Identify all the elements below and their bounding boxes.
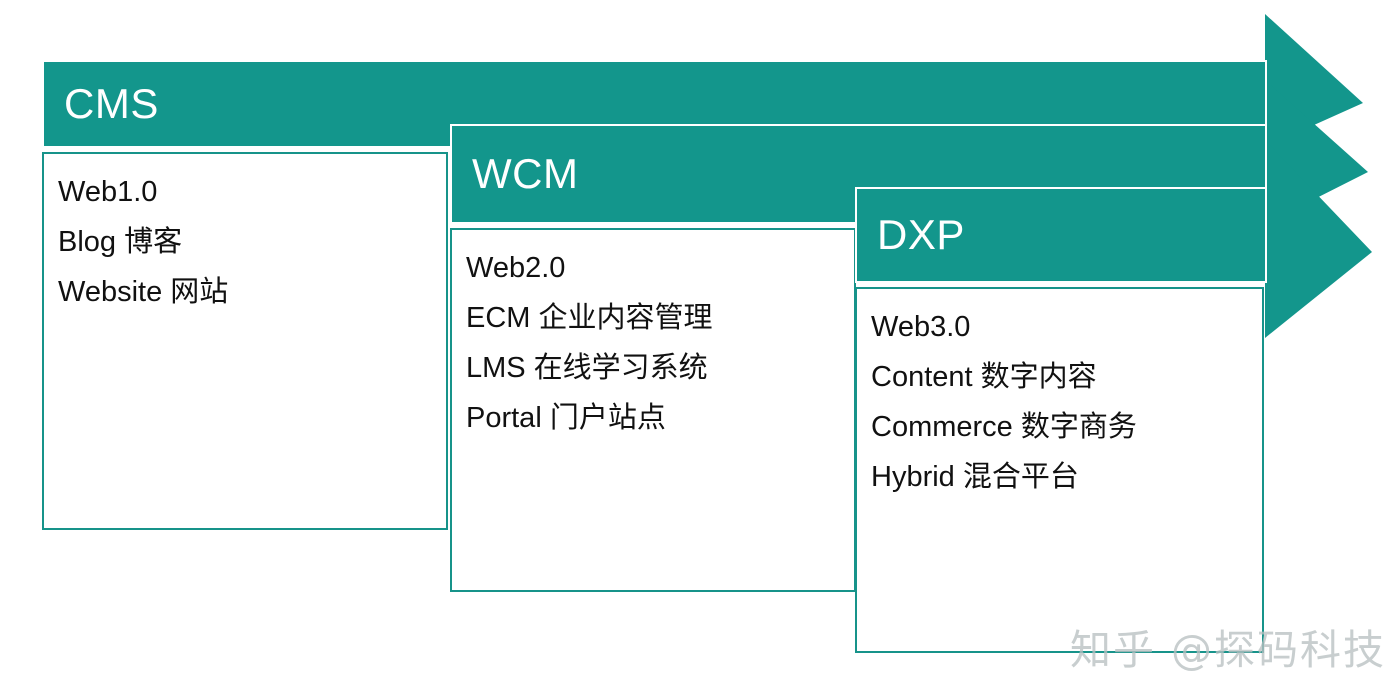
- list-item: Portal 门户站点: [466, 394, 854, 444]
- list-item: LMS 在线学习系统: [466, 344, 854, 394]
- stage-title-dxp: DXP: [857, 214, 965, 256]
- diagram-canvas: CMS Web1.0 Blog 博客 Website 网站 WCM Web2.0…: [0, 0, 1400, 684]
- stage-item-list-cms: Web1.0 Blog 博客 Website 网站: [58, 168, 446, 318]
- stage-title-cms: CMS: [44, 83, 159, 125]
- list-item: ECM 企业内容管理: [466, 294, 854, 344]
- list-item: Hybrid 混合平台: [871, 453, 1262, 503]
- stage-panel-dxp: Web3.0 Content 数字内容 Commerce 数字商务 Hybrid…: [855, 287, 1264, 653]
- list-item: Content 数字内容: [871, 353, 1262, 403]
- list-item: Web1.0: [58, 168, 446, 218]
- list-item: Web2.0: [466, 244, 854, 294]
- stage-band-dxp[interactable]: DXP: [855, 187, 1267, 283]
- list-item: Blog 博客: [58, 218, 446, 268]
- stage-panel-wcm: Web2.0 ECM 企业内容管理 LMS 在线学习系统 Portal 门户站点: [450, 228, 856, 592]
- list-item: Website 网站: [58, 268, 446, 318]
- stage-item-list-wcm: Web2.0 ECM 企业内容管理 LMS 在线学习系统 Portal 门户站点: [466, 244, 854, 444]
- stage-panel-cms: Web1.0 Blog 博客 Website 网站: [42, 152, 448, 530]
- stage-title-wcm: WCM: [452, 153, 578, 195]
- stage-item-list-dxp: Web3.0 Content 数字内容 Commerce 数字商务 Hybrid…: [871, 303, 1262, 503]
- list-item: Commerce 数字商务: [871, 403, 1262, 453]
- watermark-text: 知乎 @探码科技: [1070, 616, 1386, 676]
- list-item: Web3.0: [871, 303, 1262, 353]
